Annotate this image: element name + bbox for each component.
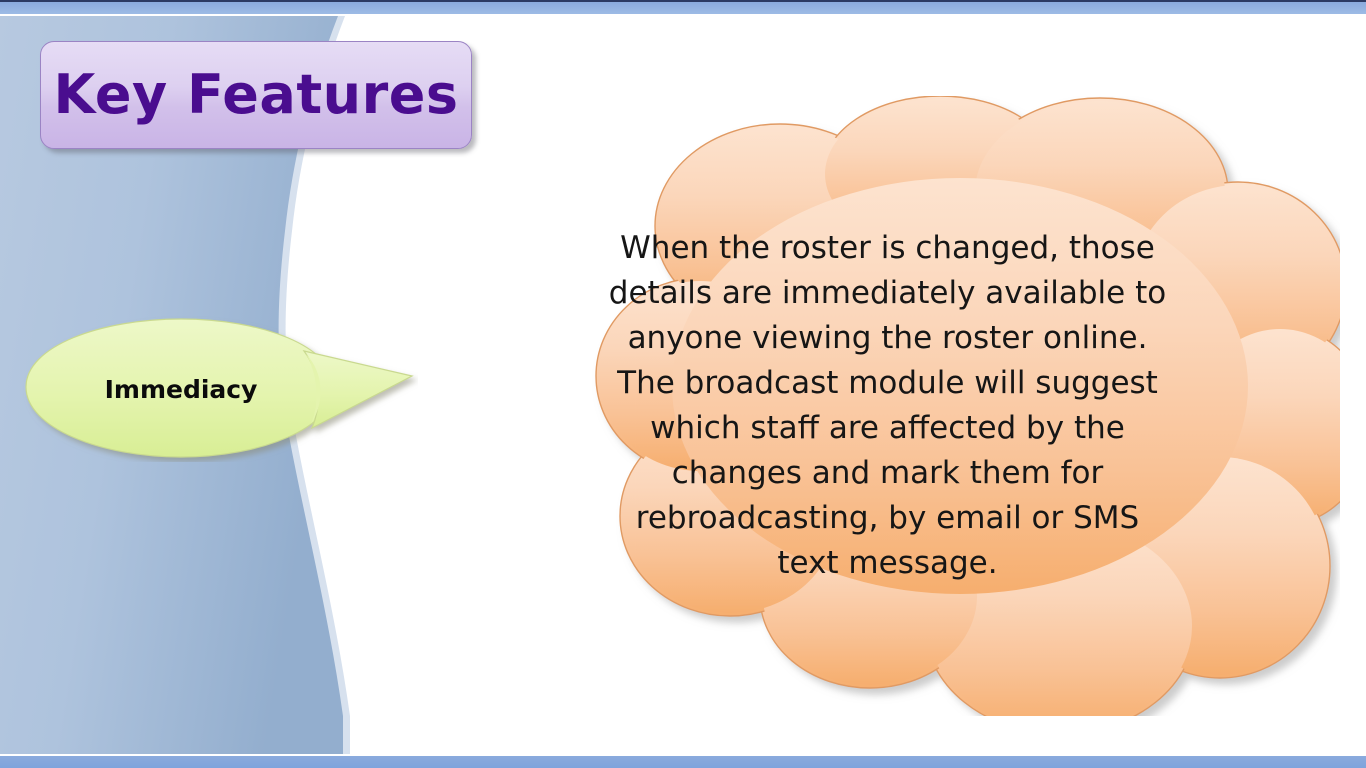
callout-body [26, 319, 412, 457]
callout-svg [16, 316, 418, 462]
cloud-body [596, 96, 1340, 716]
slide-title-plaque: Key Features [40, 41, 472, 149]
frame-top-band [0, 0, 1366, 14]
slide-canvas: When the roster is changed, those detail… [0, 0, 1366, 768]
cloud-shape-container: When the roster is changed, those detail… [400, 96, 1340, 716]
frame-bottom-band [0, 754, 1366, 768]
page-title: Key Features [54, 68, 459, 122]
callout-oval [26, 319, 334, 457]
cloud-svg [400, 96, 1340, 716]
immediacy-callout: Immediacy [16, 316, 418, 462]
